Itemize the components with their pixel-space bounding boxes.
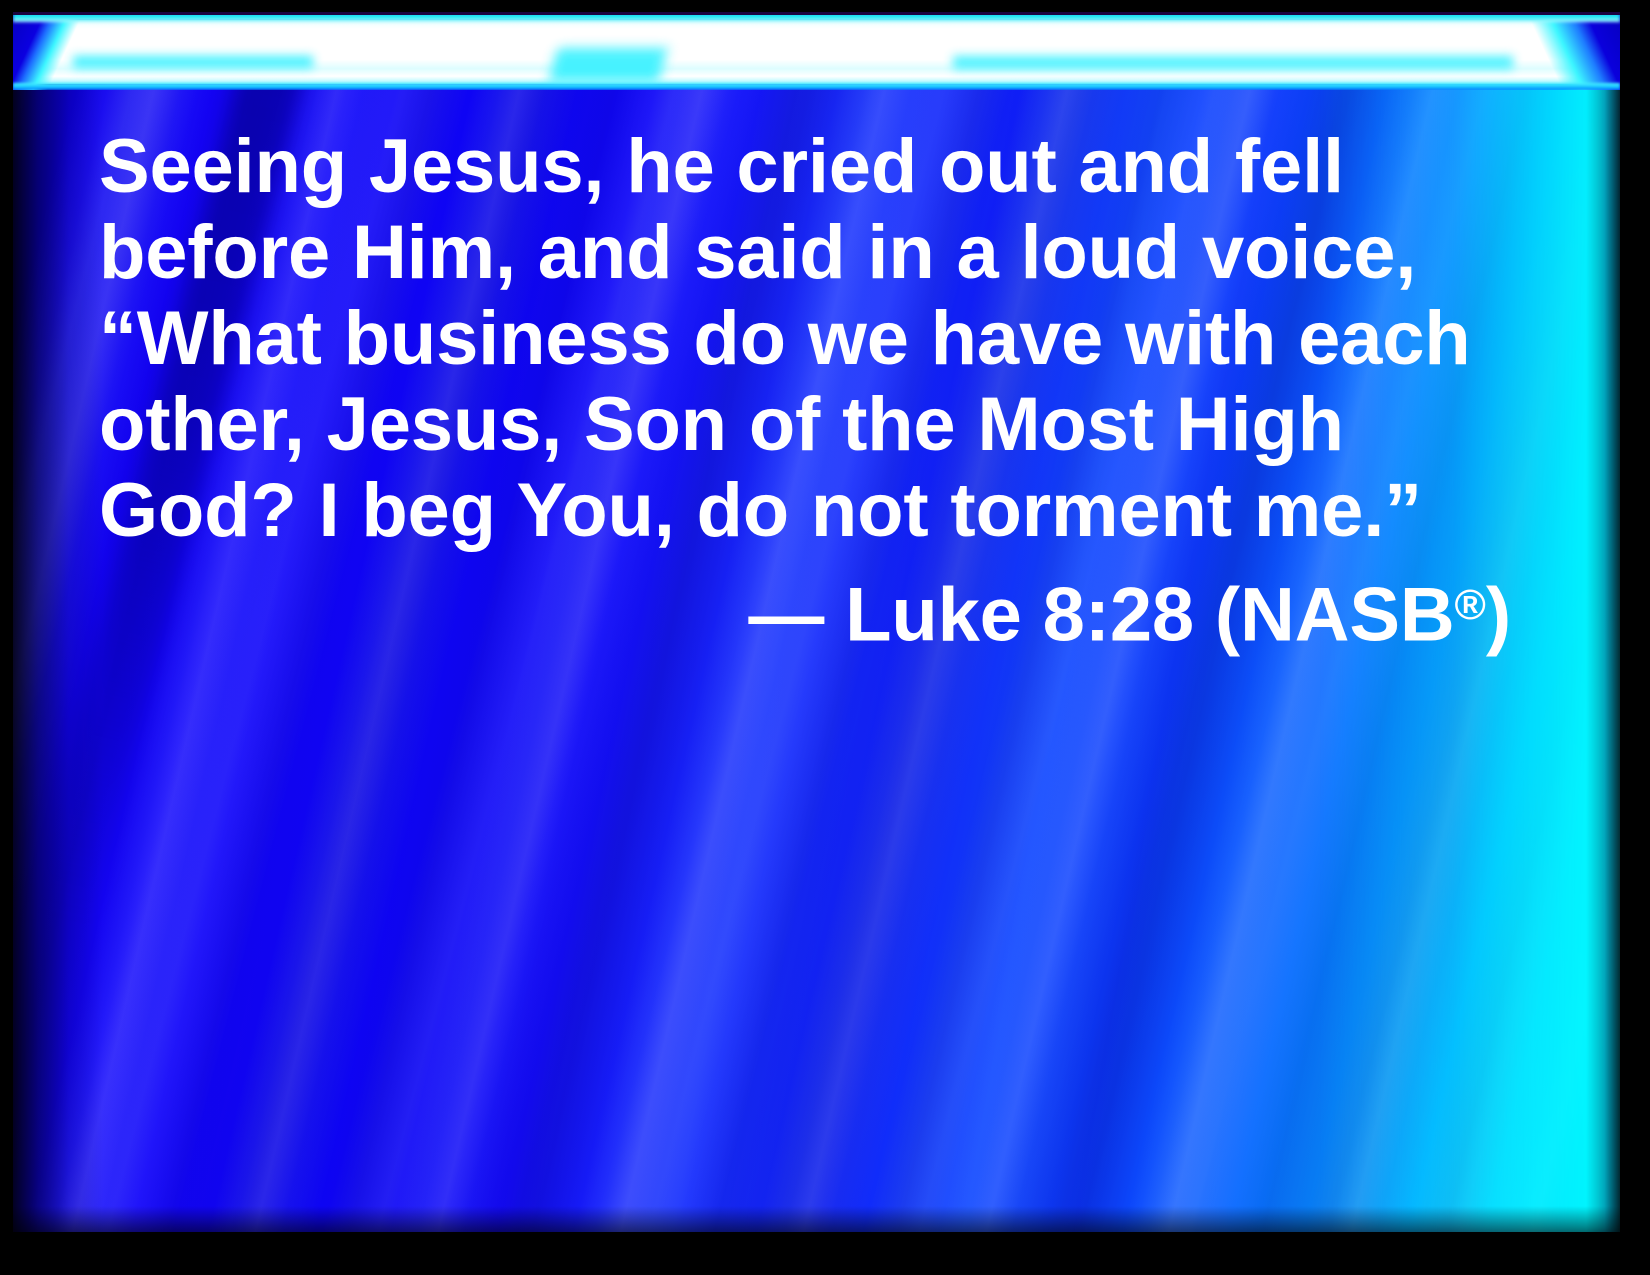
background-bottom-shade	[13, 1206, 1620, 1232]
top-band-right-bevel	[1500, 12, 1620, 90]
attribution-reference: Luke 8:28 (NASB	[845, 572, 1454, 657]
verse-body-text: Seeing Jesus, he cried out and fell befo…	[99, 124, 1519, 554]
scripture-slide: Seeing Jesus, he cried out and fell befo…	[0, 0, 1650, 1275]
background-left-shade	[13, 12, 103, 1232]
top-band-white-fill	[13, 20, 1620, 84]
background-right-shade	[1586, 12, 1620, 1232]
verse-block: Seeing Jesus, he cried out and fell befo…	[99, 124, 1519, 658]
attribution-close-paren: )	[1486, 572, 1511, 657]
attribution-dash: —	[748, 572, 845, 657]
verse-attribution: — Luke 8:28 (NASB®)	[99, 554, 1519, 658]
top-band-baseline	[13, 83, 1620, 90]
top-band-cyan-wisp-right	[953, 56, 1513, 69]
top-band-left-bevel	[13, 12, 99, 90]
top-highlight-band	[13, 12, 1620, 90]
top-band-cyan-wisp-left	[73, 56, 313, 68]
registered-trademark-icon: ®	[1455, 581, 1486, 629]
top-band-cyan-wisp-center	[549, 48, 667, 82]
slide-canvas: Seeing Jesus, he cried out and fell befo…	[13, 12, 1620, 1232]
top-band-dark-edge	[13, 12, 1620, 15]
